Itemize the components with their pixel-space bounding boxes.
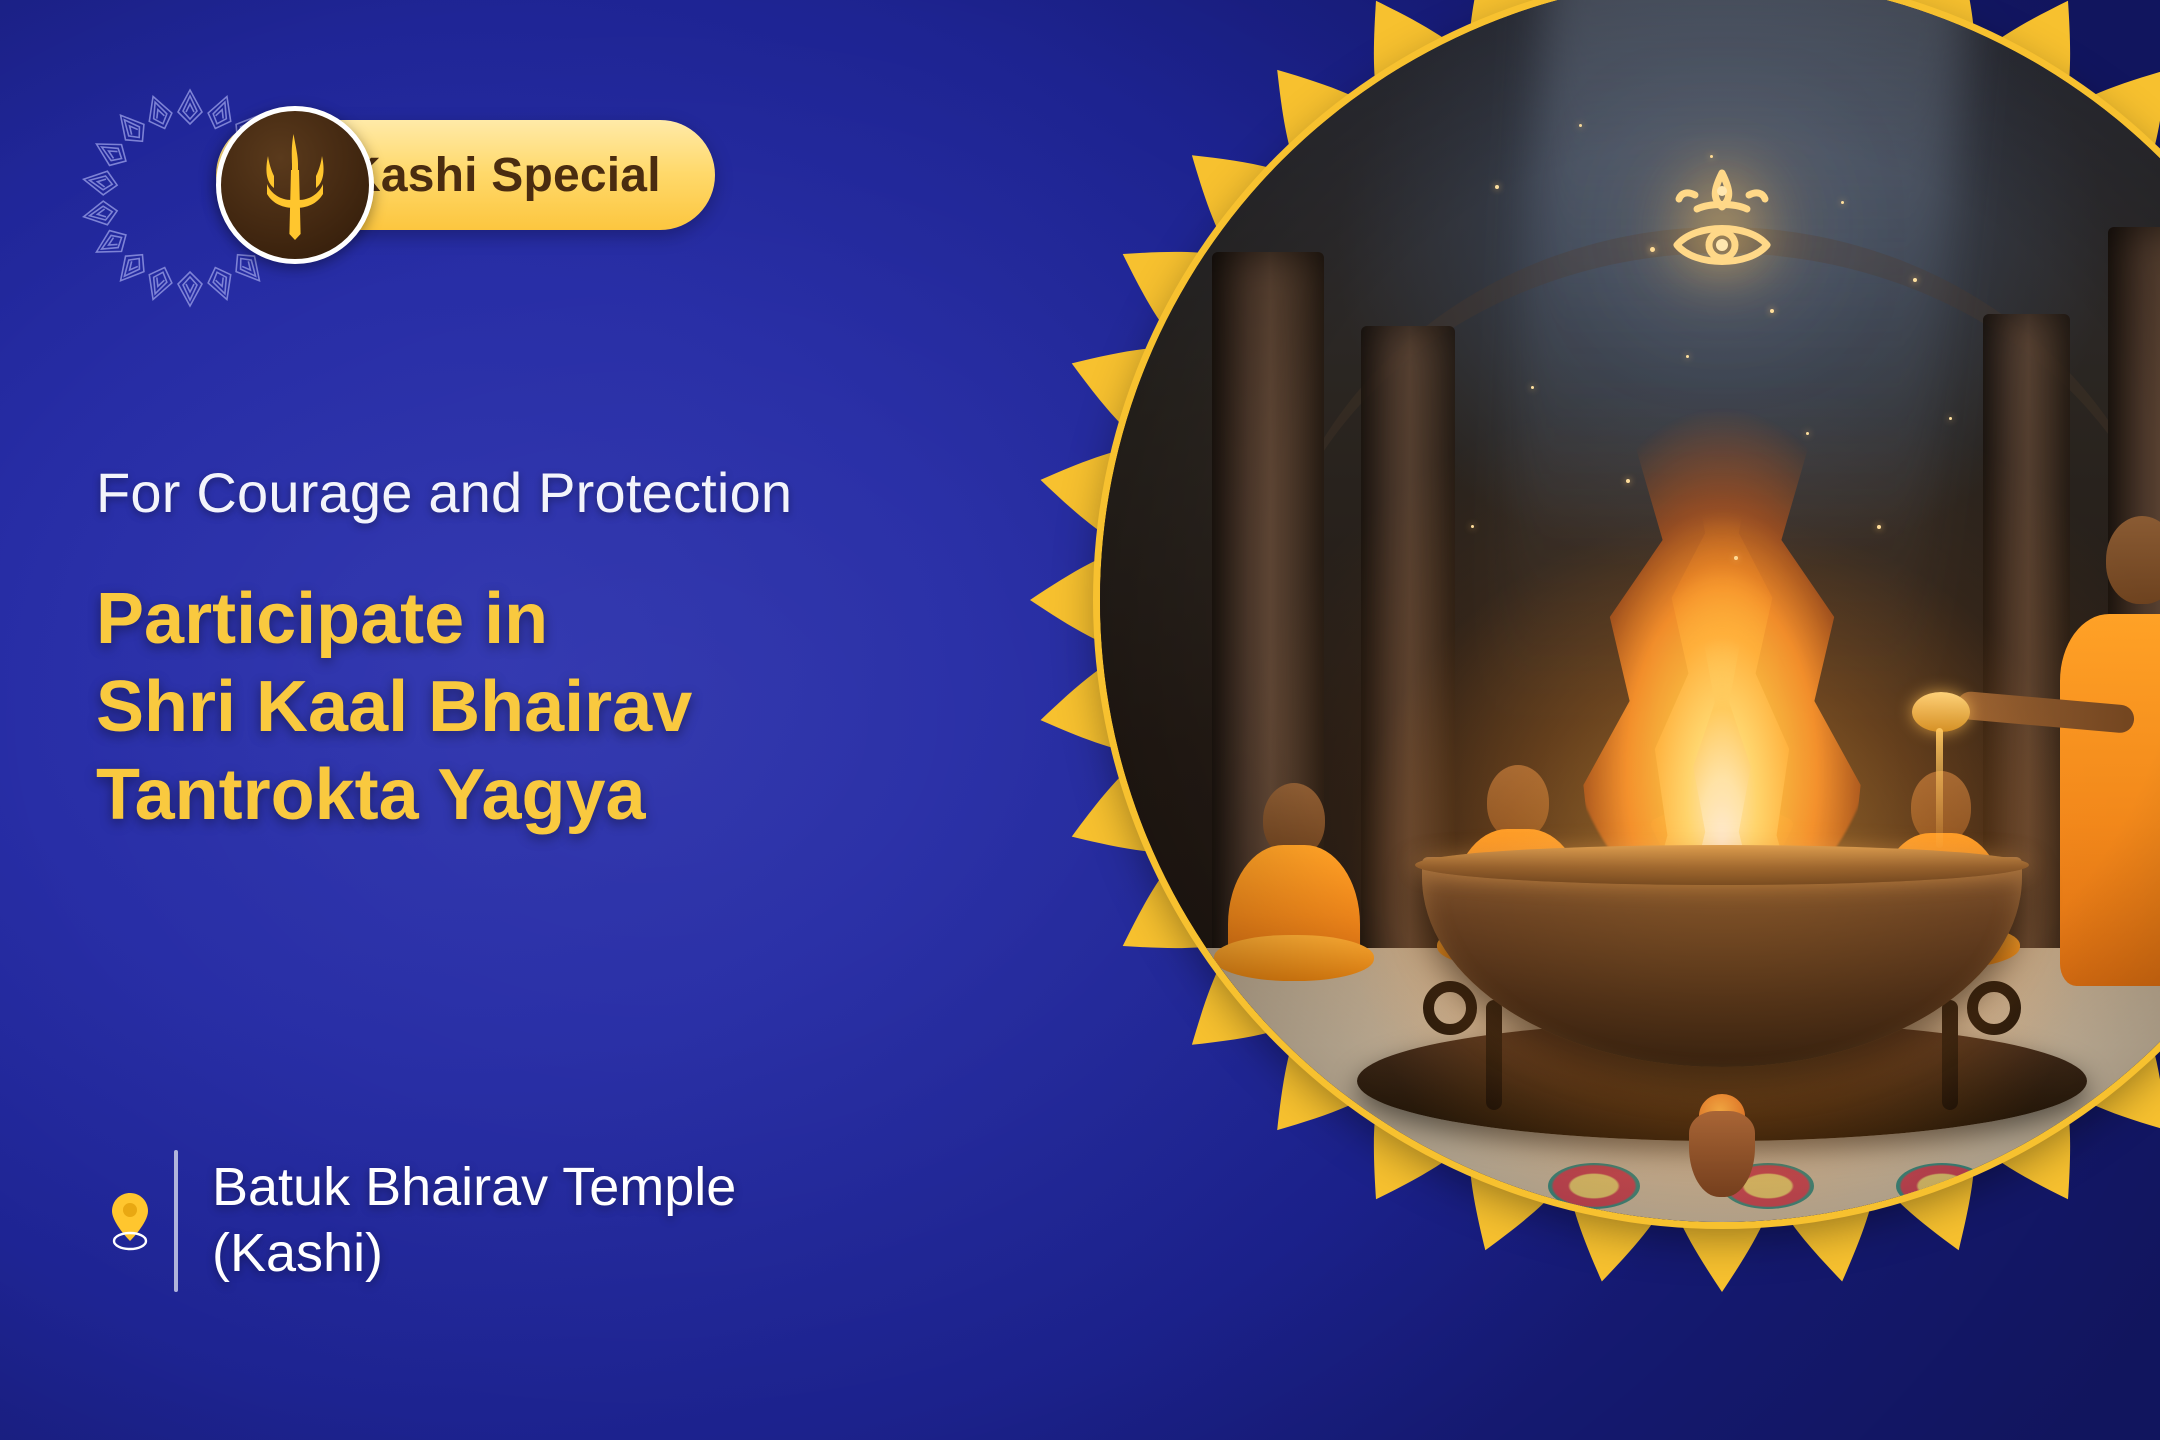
seated-priest xyxy=(1224,783,1364,973)
eyebrow-text: For Courage and Protection xyxy=(96,460,792,525)
map-pin-icon xyxy=(107,1191,153,1251)
hero-medallion xyxy=(1012,0,2160,1310)
venue-divider xyxy=(174,1150,178,1292)
badge-icon-circle xyxy=(216,106,374,264)
content-column: Kashi Special For Courage and Protection… xyxy=(0,0,1060,1440)
headline-line-3: Tantrokta Yagya xyxy=(96,752,692,840)
kund-hook xyxy=(1967,981,2021,1035)
page-title: Participate in Shri Kaal Bhairav Tantrok… xyxy=(96,576,692,839)
pin-wrapper xyxy=(92,1191,168,1251)
kund-leg xyxy=(1486,1000,1502,1110)
headline-line-2: Shri Kaal Bhairav xyxy=(96,664,692,752)
venue-line-1: Batuk Bhairav Temple xyxy=(212,1155,736,1221)
yagna-scene xyxy=(1100,0,2160,1222)
kund-rim xyxy=(1415,845,2029,885)
trishul-icon xyxy=(247,130,343,240)
venue-block: Batuk Bhairav Temple (Kashi) xyxy=(92,1150,736,1292)
standing-priest xyxy=(2052,516,2160,986)
headline-line-1: Participate in xyxy=(96,576,692,664)
kund-leg xyxy=(1942,1000,1958,1110)
promo-banner: Kashi Special For Courage and Protection… xyxy=(0,0,2160,1440)
hero-image xyxy=(1100,0,2160,1222)
venue-line-2: (Kashi) xyxy=(212,1221,736,1287)
badge-label: Kashi Special xyxy=(346,148,661,203)
badge-pill[interactable]: Kashi Special xyxy=(216,120,715,230)
kashi-special-badge[interactable]: Kashi Special xyxy=(96,110,715,240)
venue-name: Batuk Bhairav Temple (Kashi) xyxy=(212,1155,736,1287)
third-eye-icon xyxy=(1647,165,1797,295)
